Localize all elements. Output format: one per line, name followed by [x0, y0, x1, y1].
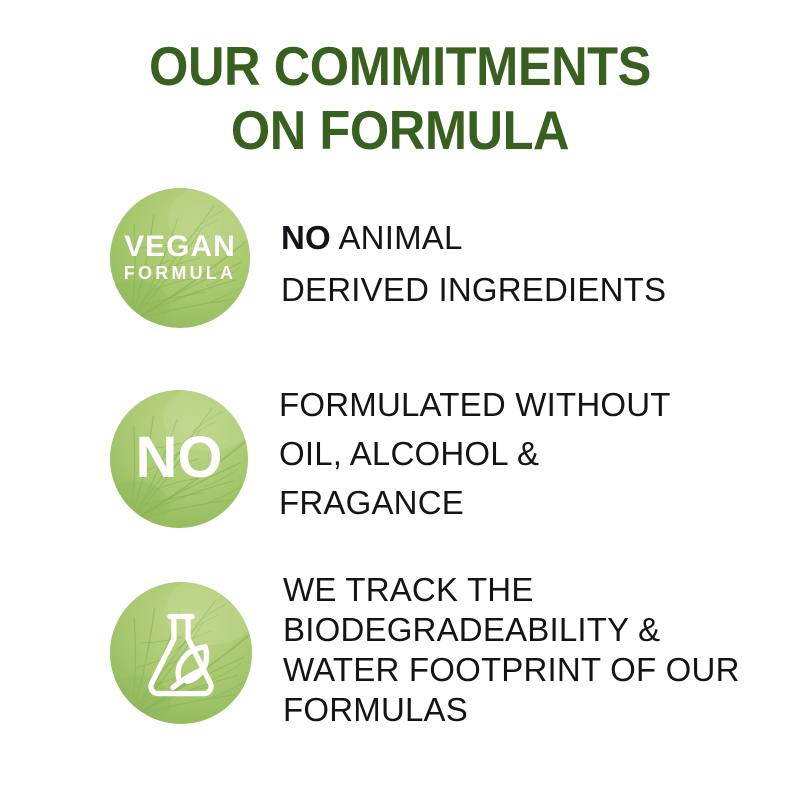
flask-with-leaf-icon [110, 582, 252, 724]
emphasis-no: NO [281, 219, 331, 256]
commitment-row-vegan: VEGAN FORMULA NO ANIMAL DERIVED INGREDIE… [0, 178, 800, 368]
commitment-text-line: FORMULATED WITHOUT [279, 380, 671, 429]
commitment-text-biodegradeability: WE TRACK THE BIODEGRADEABILITY & WATER F… [283, 564, 740, 730]
commitment-row-biodegradeability: WE TRACK THE BIODEGRADEABILITY & WATER F… [0, 564, 800, 764]
commitment-text-line: WE TRACK THE [283, 570, 740, 610]
flask-leaf-badge [110, 582, 252, 724]
no-leaf-badge: NO [110, 390, 248, 528]
commitments-poster: OUR COMMITMENTS ON FORMULA [0, 0, 800, 800]
commitment-text-line: BIODEGRADEABILITY & [283, 610, 740, 650]
commitment-text-vegan: NO ANIMAL DERIVED INGREDIENTS [281, 178, 666, 316]
leaf-texture-icon [110, 390, 248, 528]
commitment-text-line: FRAGANCE [279, 478, 671, 527]
commitment-text-line: DERIVED INGREDIENTS [281, 264, 666, 316]
commitment-text-line: NO ANIMAL [281, 212, 666, 264]
commitment-text-no: FORMULATED WITHOUT OIL, ALCOHOL & FRAGAN… [279, 368, 671, 527]
commitment-line-rest: ANIMAL [331, 219, 463, 256]
page-title-line-2: ON FORMULA [32, 98, 768, 162]
vegan-formula-leaf-badge: VEGAN FORMULA [110, 188, 250, 328]
page-title: OUR COMMITMENTS ON FORMULA [32, 34, 768, 162]
commitment-text-line: WATER FOOTPRINT OF OUR [283, 650, 740, 690]
page-title-line-1: OUR COMMITMENTS [32, 34, 768, 98]
commitment-row-no: NO FORMULATED WITHOUT OIL, ALCOHOL & FRA… [0, 368, 800, 564]
commitment-text-line: FORMULAS [283, 690, 740, 730]
commitment-text-line: OIL, ALCOHOL & [279, 429, 671, 478]
leaf-texture-icon [110, 188, 250, 328]
commitments-list: VEGAN FORMULA NO ANIMAL DERIVED INGREDIE… [0, 178, 800, 764]
